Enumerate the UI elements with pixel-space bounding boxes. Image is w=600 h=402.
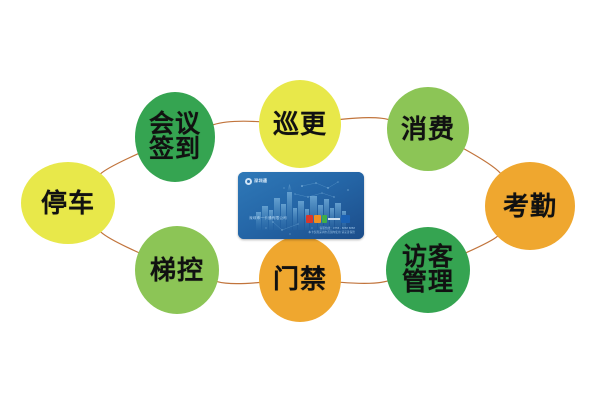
badge-block-red [306,215,313,223]
card-brand-logo: 深圳通 [245,178,267,185]
node-patrol[interactable]: 巡更 [259,80,341,168]
node-label-meeting: 会议 签到 [149,112,201,163]
node-parking[interactable]: 停车 [21,162,115,244]
connector-elevator-to-parking [101,232,138,252]
card-badge-logo [306,215,350,223]
card-company-text: 深圳市一卡通有限公司 [249,216,287,221]
node-access[interactable]: 门禁 [259,236,341,322]
card-fineprint: 客服热线：0755 - 8888 8888 本卡仅限深圳市范围内使用 请妥善保管 [308,227,355,235]
connector-consume-to-attend [464,149,500,173]
smart-card-image: 深圳通 深圳市一卡通有限公司 客服热线：0755 - 8888 8888 本卡仅… [238,172,364,239]
badge-block-green [322,215,327,223]
node-consume[interactable]: 消费 [387,87,469,171]
card-fineprint-line2: 本卡仅限深圳市范围内使用 请妥善保管 [308,231,355,235]
node-label-parking: 停车 [41,190,95,217]
badge-bar [328,218,340,220]
node-label-visitor: 访客 管理 [402,245,454,296]
brand-mark-icon [245,178,252,185]
node-label-attend: 考勤 [503,193,557,220]
connector-patrol-to-consume [341,118,388,120]
node-label-patrol: 巡更 [273,111,327,138]
node-label-elevator: 梯控 [150,257,204,284]
diagram-canvas: 停车会议 签到巡更消费考勤访客 管理门禁梯控 [0,0,600,402]
node-label-consume: 消费 [401,116,455,143]
connector-attend-to-visitor [466,236,497,252]
node-attend[interactable]: 考勤 [485,162,575,250]
connector-meeting-to-patrol [214,121,260,124]
badge-block-orange [314,215,321,223]
connector-access-to-elevator [218,282,260,284]
node-label-access: 门禁 [273,266,327,293]
node-meeting[interactable]: 会议 签到 [135,92,215,182]
card-brand-text: 深圳通 [254,179,267,184]
connector-visitor-to-access [341,281,388,283]
connector-parking-to-meeting [101,154,138,174]
badge-block-blue [341,215,350,223]
node-visitor[interactable]: 访客 管理 [386,227,470,313]
node-elevator[interactable]: 梯控 [135,226,219,314]
